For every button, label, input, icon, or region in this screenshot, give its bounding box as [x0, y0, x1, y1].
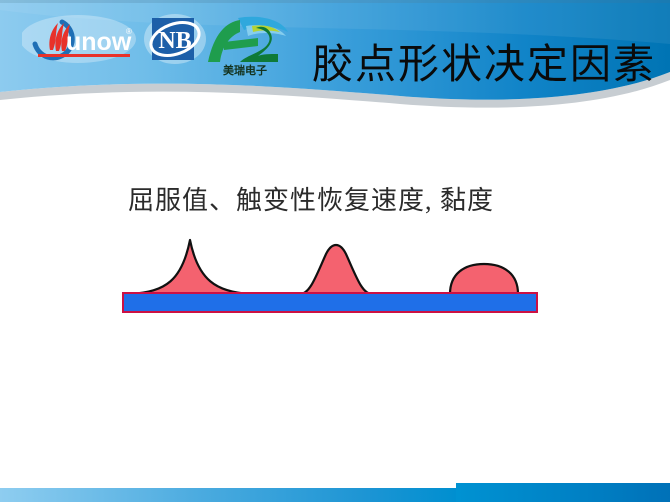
- nb-logo-graphic: NB: [144, 12, 206, 66]
- slide-canvas: unow ® NB: [0, 0, 670, 502]
- registered-mark: ®: [126, 27, 132, 36]
- footer-bar-left: [0, 488, 456, 502]
- glue-dot-shapes-diagram: [120, 232, 540, 316]
- underline-rule: [38, 54, 130, 57]
- page-title: 胶点形状决定因素: [312, 40, 656, 88]
- sunow-logo-graphic: unow ®: [22, 14, 140, 64]
- glue-dot-shapes-graphic: [120, 232, 540, 316]
- nb-wordmark: NB: [158, 28, 191, 54]
- meirui-logo-graphic: 美瑞电子: [200, 12, 290, 78]
- peaked-spike-dot: [130, 240, 250, 294]
- sunow-wordmark: unow: [66, 28, 132, 56]
- bell-dome-dot: [300, 245, 372, 294]
- footer-bar-right: [456, 483, 670, 502]
- nb-logo[interactable]: NB: [144, 12, 206, 66]
- flat-dome-dot: [450, 264, 518, 294]
- substrate-bar: [123, 293, 537, 312]
- body-text-line: 屈服值、触变性恢复速度, 黏度: [128, 184, 494, 218]
- sunow-logo[interactable]: unow ®: [22, 14, 140, 64]
- meirui-logo[interactable]: 美瑞电子: [200, 12, 290, 78]
- meirui-wordmark: 美瑞电子: [223, 63, 267, 77]
